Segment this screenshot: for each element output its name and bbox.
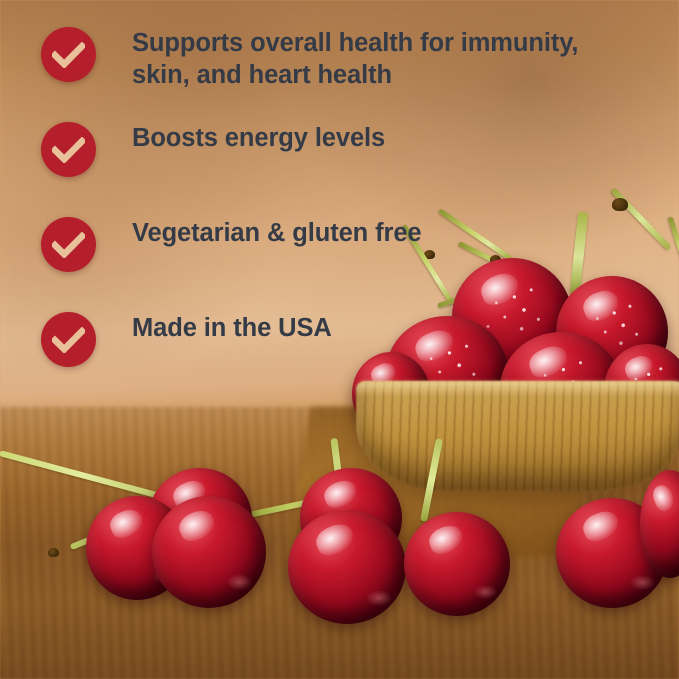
benefits-list: Supports overall health for immunity, sk… xyxy=(41,22,631,402)
cherry-stem xyxy=(420,438,443,522)
benefit-item: Boosts energy levels xyxy=(41,117,631,212)
cherry xyxy=(152,496,266,608)
check-circle-icon xyxy=(41,27,96,82)
benefit-label: Made in the USA xyxy=(132,307,332,345)
check-circle-icon xyxy=(41,217,96,272)
benefit-item: Supports overall health for immunity, sk… xyxy=(41,22,631,117)
check-circle-icon xyxy=(41,122,96,177)
benefit-label: Supports overall health for immunity, sk… xyxy=(132,22,578,91)
product-benefits-card: Supports overall health for immunity, sk… xyxy=(0,0,679,679)
benefit-item: Vegetarian & gluten free xyxy=(41,212,631,307)
cherry-stem-knob xyxy=(48,548,59,557)
check-circle-icon xyxy=(41,312,96,367)
benefit-item: Made in the USA xyxy=(41,307,631,402)
cherry xyxy=(288,510,406,624)
cherry xyxy=(404,512,510,616)
benefit-label: Boosts energy levels xyxy=(132,117,385,155)
benefit-label: Vegetarian & gluten free xyxy=(132,212,422,250)
cherry-stem xyxy=(668,216,679,284)
